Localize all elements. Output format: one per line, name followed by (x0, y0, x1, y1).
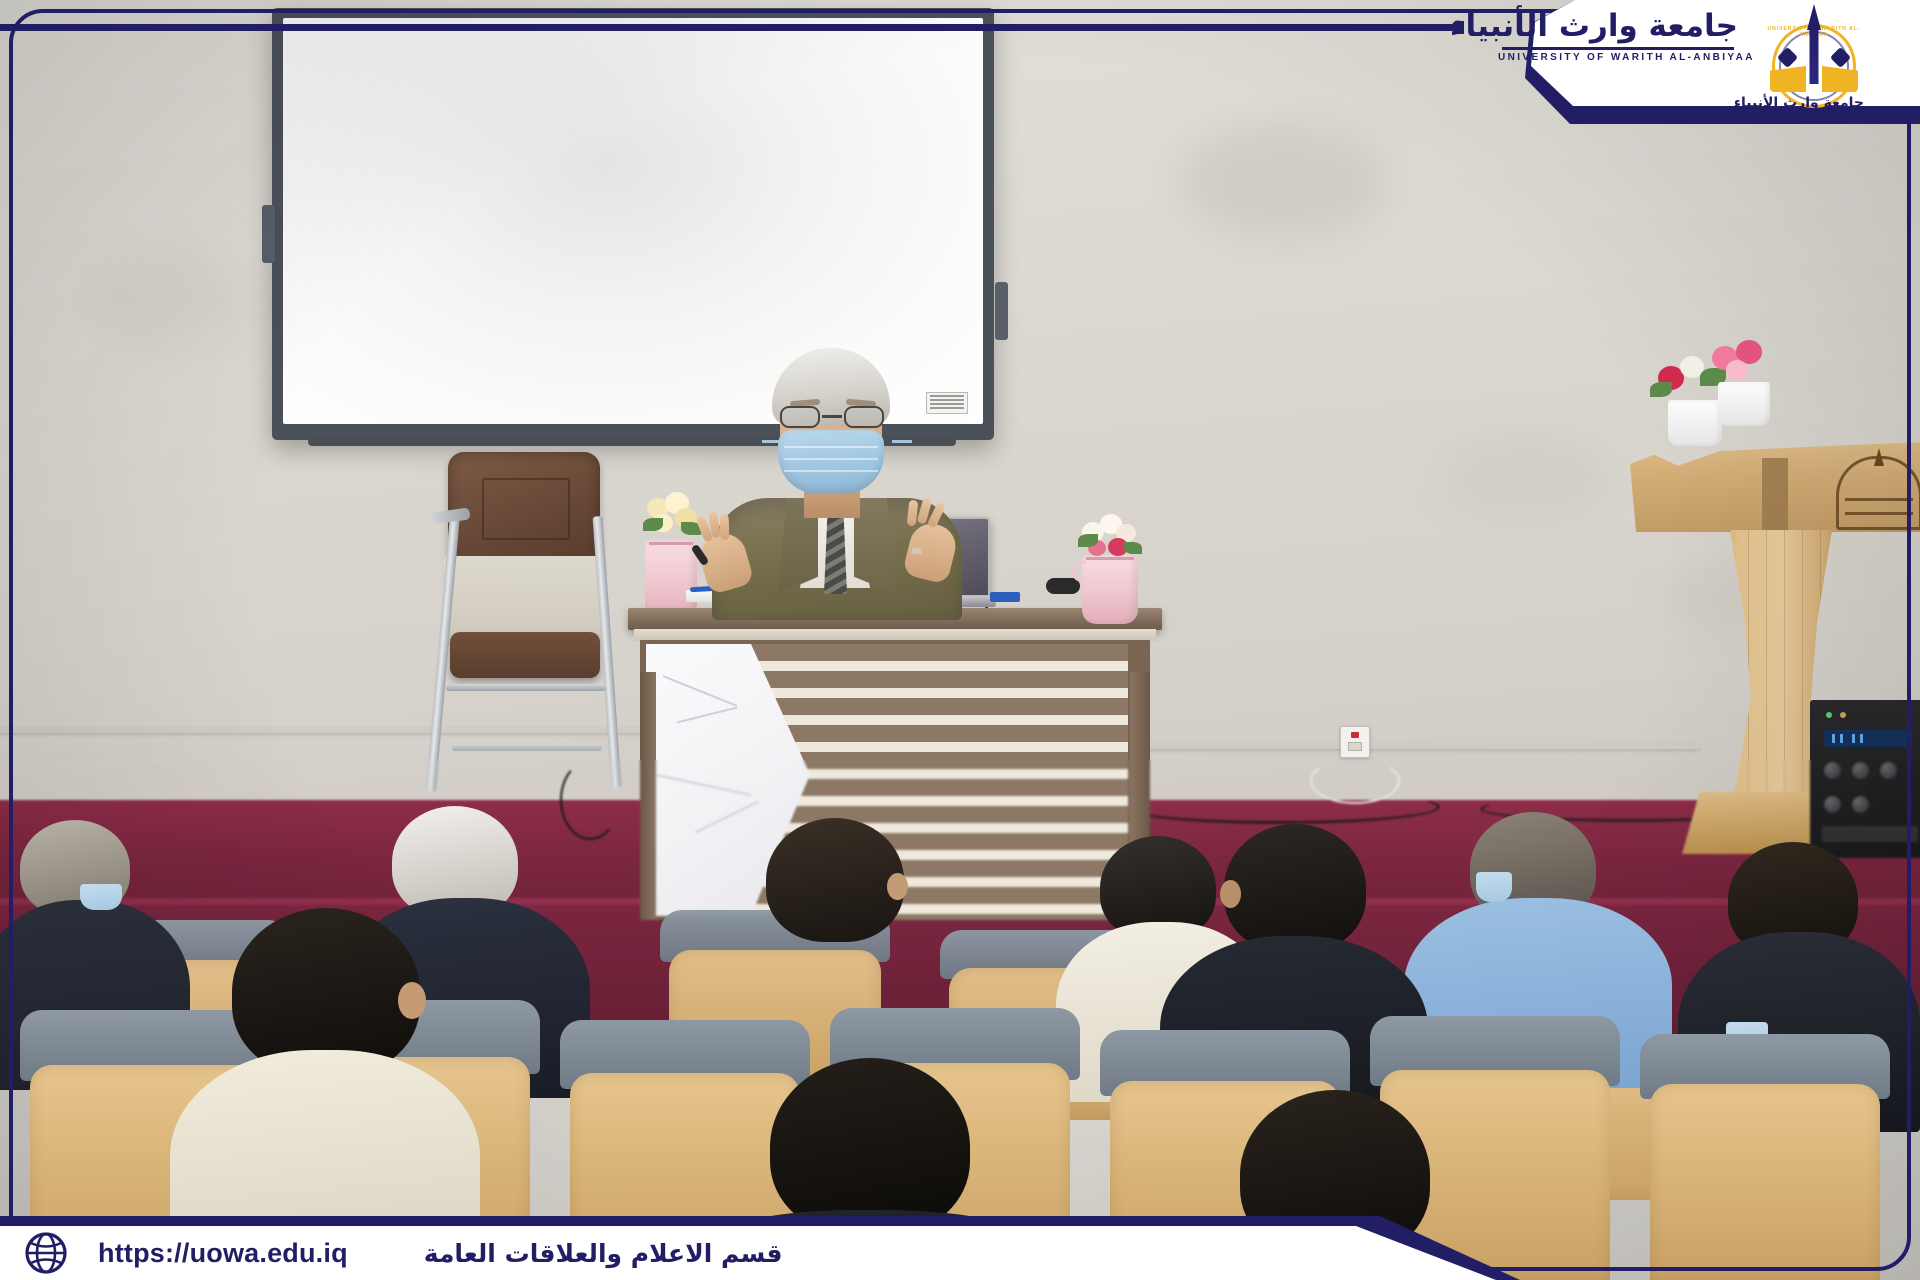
header-logo-panel: جامعة وارث الأنبياء UNIVERSITY OF WARITH… (1360, 0, 1920, 124)
chair-rail (452, 744, 602, 751)
ear (887, 873, 908, 900)
flower-leaf (1650, 382, 1672, 397)
wordmark-arabic: جامعة وارث الأنبياء (1498, 6, 1738, 46)
wall-smudge (1180, 120, 1390, 240)
wall-trim-line (1140, 742, 1700, 749)
globe-icon (24, 1231, 68, 1275)
wall-socket (1340, 726, 1370, 758)
rack-knob[interactable] (1824, 796, 1841, 813)
audience-head (1224, 824, 1366, 952)
vase-band (649, 542, 693, 545)
audience-face-mask (1476, 872, 1512, 902)
audio-rack (1810, 700, 1920, 858)
rack-knob[interactable] (1880, 762, 1897, 779)
seal-year: 2017 (1764, 110, 1864, 121)
headset (1046, 578, 1080, 594)
wall-smudge (90, 250, 250, 350)
podium-university-crest (1836, 456, 1920, 530)
seal-text-band: جامعة وارث الأنبياء 2017 (1764, 96, 1864, 122)
seal-arabic-text: جامعة وارث الأنبياء (1764, 96, 1864, 110)
rack-display (1824, 730, 1912, 747)
marble-vein (677, 707, 738, 724)
marble-vein (695, 801, 759, 833)
rack-knob[interactable] (1852, 762, 1869, 779)
audience-head (766, 818, 904, 942)
rack-slot (1822, 826, 1918, 842)
hair (766, 818, 904, 942)
mask-strap (892, 440, 912, 443)
presenter-tie (824, 508, 847, 594)
marble-vein (657, 774, 751, 796)
presenter-face-mask (778, 430, 884, 494)
flower-leaf (643, 518, 663, 531)
wordmark-rule (1502, 47, 1734, 50)
flower-pot-right (1718, 382, 1770, 426)
finger-ring (912, 548, 922, 554)
desk-post (640, 672, 656, 920)
leather-chair (430, 452, 620, 792)
seal-pen-nib-icon (1807, 4, 1821, 30)
flower-pot-left (1668, 400, 1722, 446)
status-led (1840, 712, 1846, 718)
wall-smudge (1440, 430, 1610, 520)
rack-knob[interactable] (1852, 796, 1869, 813)
hair (1224, 824, 1366, 952)
usb-cable-plug (990, 592, 1020, 602)
footer-bar: https://uowa.edu.iq قسم الاعلام والعلاقا… (0, 1216, 1920, 1280)
marble-vein (663, 675, 738, 707)
podium-accent-band (1762, 458, 1788, 532)
flower-leaf (1078, 534, 1098, 547)
crest-bar (1845, 498, 1914, 501)
vase-body (645, 540, 697, 618)
university-wordmark: جامعة وارث الأنبياء UNIVERSITY OF WARITH… (1498, 6, 1738, 76)
crest-bar (1845, 512, 1914, 515)
status-led (1826, 712, 1832, 718)
floor-cable (1120, 790, 1440, 824)
presenter-glasses (774, 406, 890, 428)
vase-band (1086, 557, 1133, 560)
crest-arch (1836, 456, 1920, 530)
audience-face-mask (80, 884, 122, 910)
finger (720, 514, 730, 540)
rack-knob[interactable] (1824, 762, 1841, 779)
flower-leaf (1124, 542, 1142, 554)
poster-root: hp (0, 0, 1920, 1280)
lecture-hall-photo: hp (0, 0, 1920, 1280)
vase-handle (1072, 560, 1090, 582)
website-url[interactable]: https://uowa.edu.iq (98, 1238, 348, 1269)
whiteboard-bracket-right (995, 282, 1008, 340)
chair-rail (446, 684, 606, 691)
vase-body (1082, 555, 1138, 624)
footer-content: https://uowa.edu.iq قسم الاعلام والعلاقا… (0, 1226, 1400, 1280)
header-rule-line (0, 24, 1460, 31)
university-seal-emblem: UNIVERSITY OF WARITH AL-ANBIYAA جامعة وا… (1760, 4, 1868, 122)
seal-pen-shaft (1810, 28, 1819, 84)
presenter (712, 348, 962, 618)
wordmark-english: UNIVERSITY OF WARITH AL-ANBIYAA (1498, 52, 1738, 63)
chair-seat (450, 632, 600, 678)
department-label: قسم الاعلام والعلاقات العامة (424, 1239, 783, 1268)
whiteboard-bracket-left (262, 205, 275, 263)
flower-vase-right (1082, 512, 1138, 624)
flower-petal (1726, 360, 1748, 380)
ear (398, 982, 426, 1019)
